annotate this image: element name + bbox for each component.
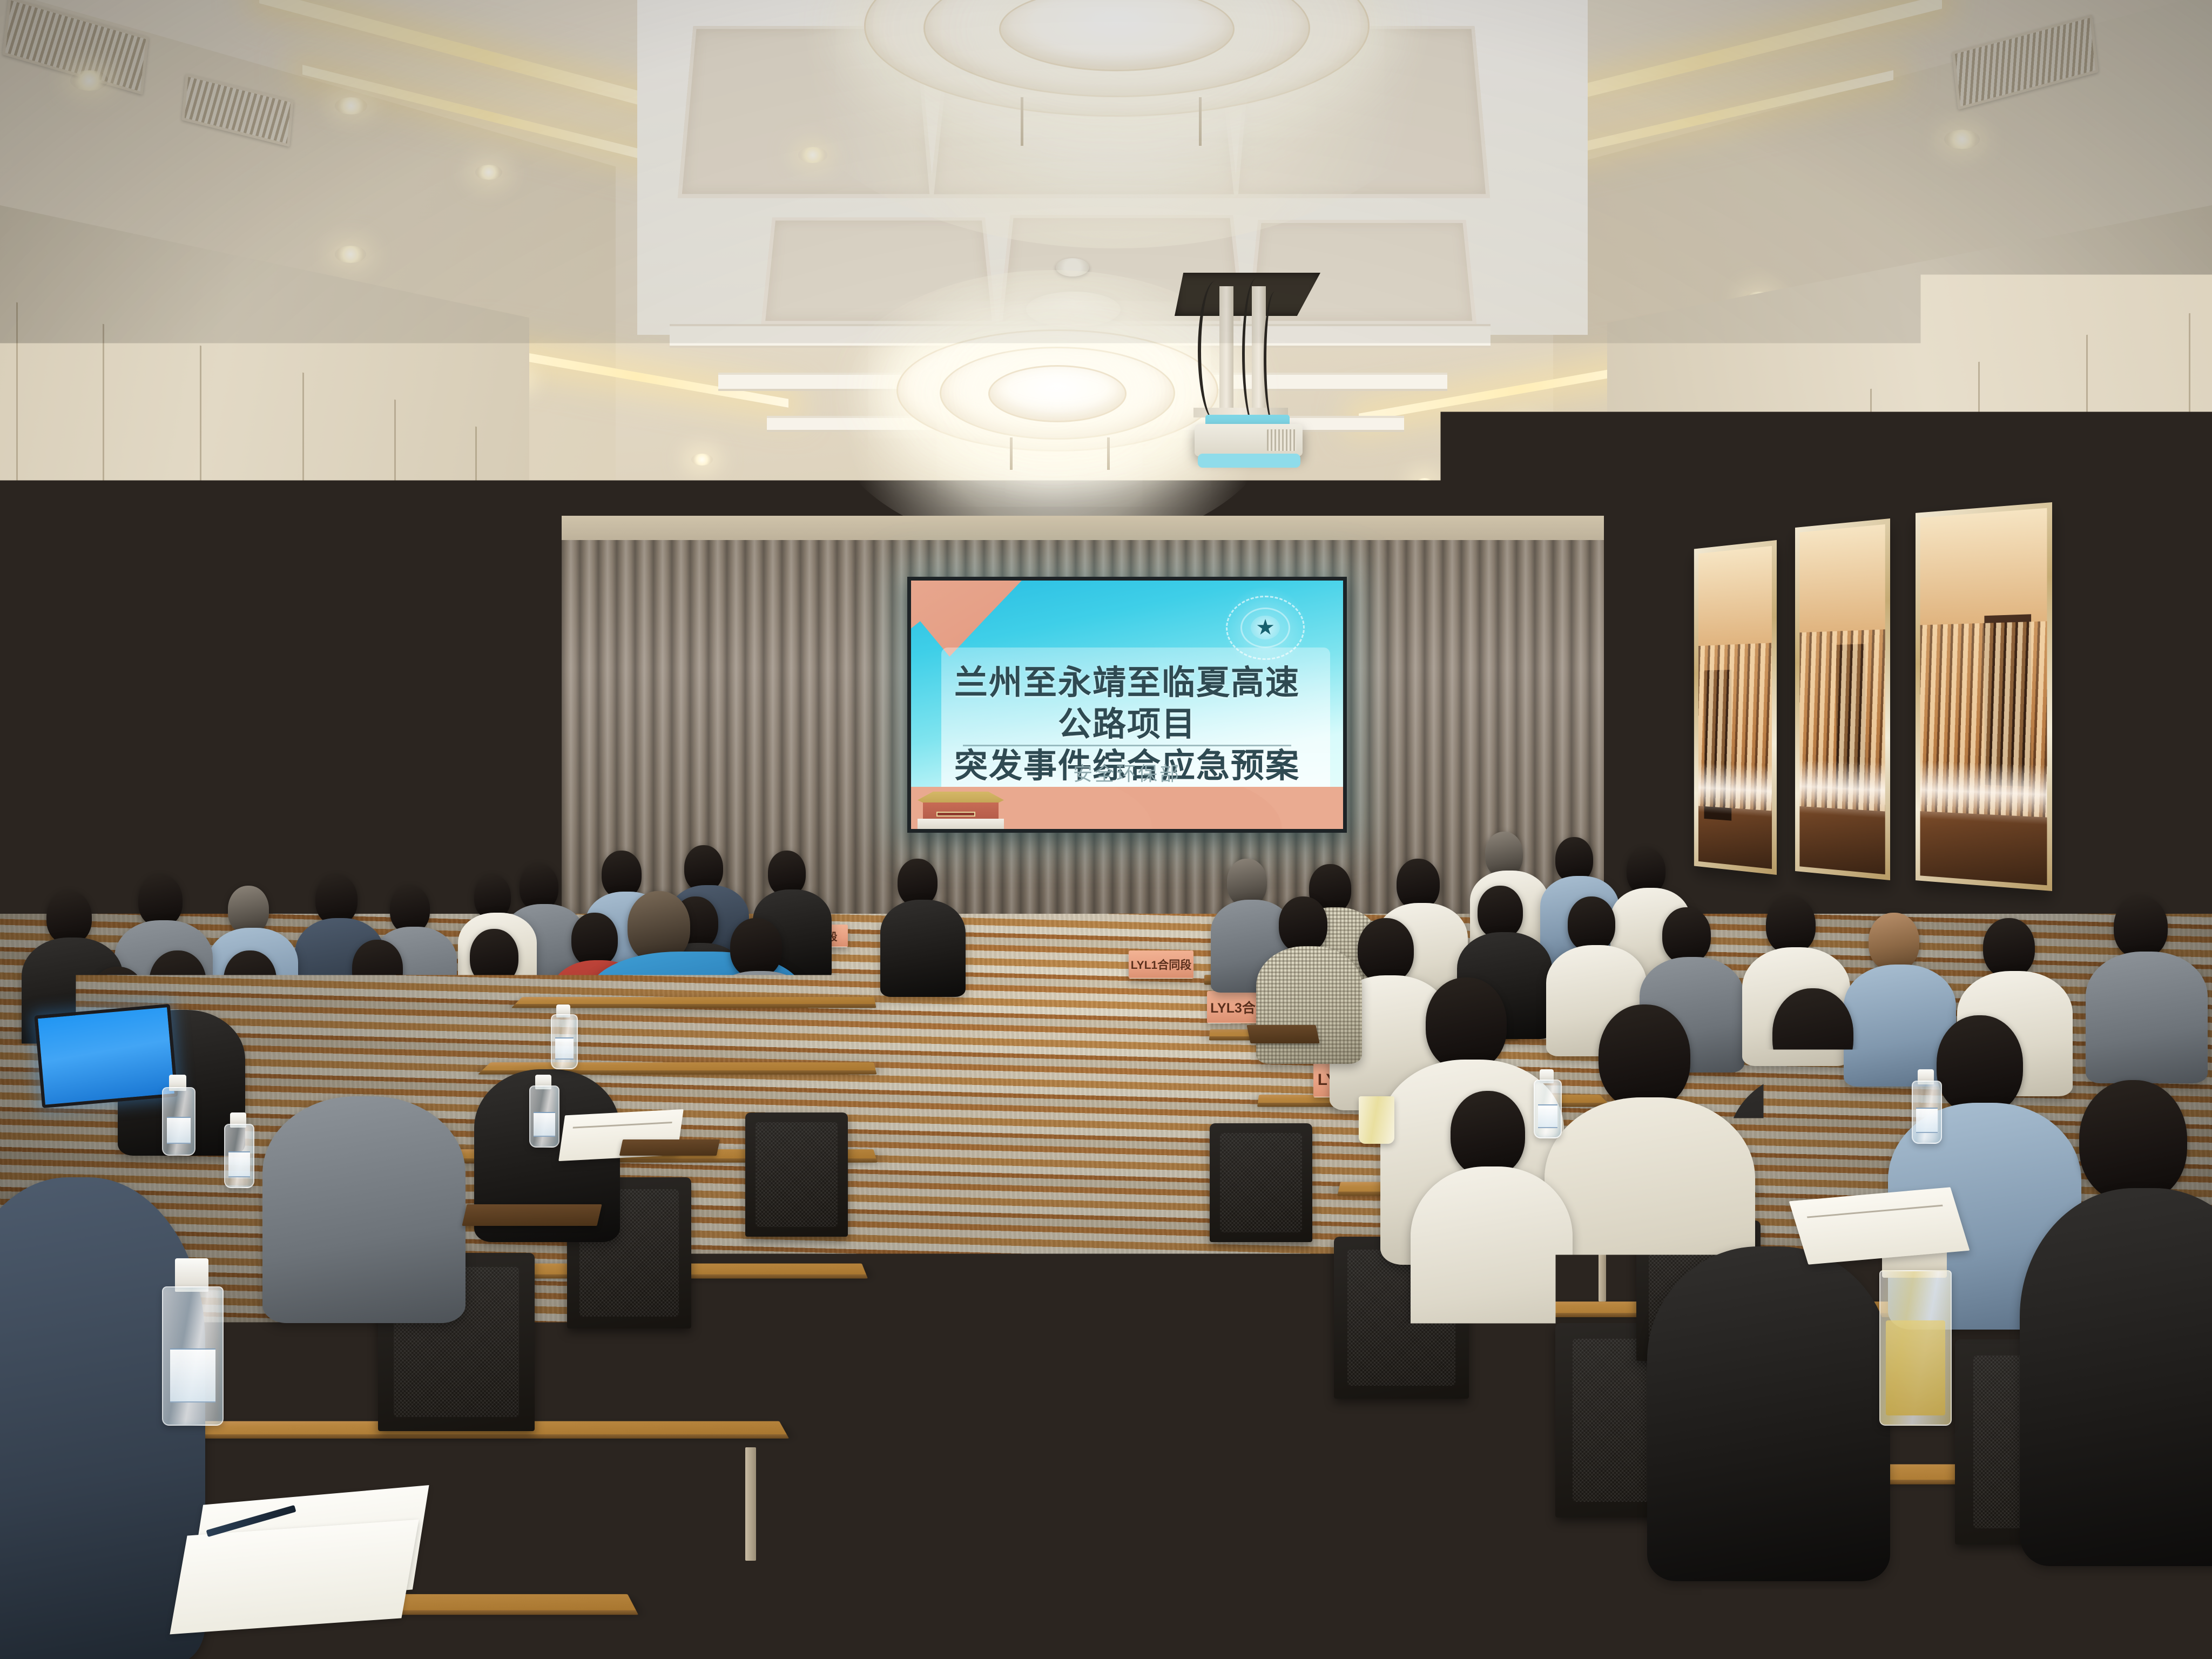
paper-cup: [1359, 1096, 1394, 1144]
office-chair: [1210, 1123, 1312, 1242]
wall-painting: [1916, 502, 2052, 891]
water-bottle: [1912, 1069, 1940, 1144]
bottle-body: [162, 1087, 195, 1156]
recessed-downlight: [70, 70, 108, 91]
conference-room-photo: ★ 兰州至永靖至临夏高速公路项目 突发事件综合应急预案汇报材料 安全环保部: [0, 0, 2212, 1659]
recessed-downlight: [691, 454, 713, 466]
painting-sky: [1698, 546, 1772, 646]
wall-panel-seam: [200, 346, 201, 908]
bottle-body: [162, 1286, 224, 1426]
water-bottle: [162, 1075, 193, 1156]
tiananmen-gate-graphic: [918, 789, 1004, 829]
booklet-text-line: [1982, 1417, 2173, 1439]
gate-base: [918, 819, 1004, 829]
bottle-body: [1534, 1080, 1562, 1138]
wall-back-left: [475, 518, 572, 896]
projector-vent: [1267, 429, 1296, 451]
bottle-body: [224, 1124, 254, 1188]
table-leg: [502, 1458, 513, 1577]
water-bottle: [162, 1258, 221, 1426]
notebook: [1246, 1025, 1319, 1043]
bottle-body: [1912, 1081, 1942, 1144]
chandelier-main: [842, 0, 1388, 167]
wall-panel-seam: [103, 324, 104, 919]
recessed-downlight: [475, 165, 502, 180]
bottle-label: [1916, 1108, 1938, 1133]
slide-divider: [963, 745, 1291, 746]
projection-screen: ★ 兰州至永靖至临夏高速公路项目 突发事件综合应急预案汇报材料 安全环保部: [907, 577, 1347, 833]
booklet-spine: [2059, 1374, 2100, 1489]
bottle-label: [170, 1348, 215, 1403]
note-paper: [170, 1520, 419, 1635]
recessed-downlight: [335, 97, 367, 114]
gate-plaque: [936, 812, 975, 817]
wall-panel-seam: [394, 400, 396, 875]
painting-mist: [1799, 759, 1885, 818]
painting-mist: [1920, 761, 2047, 825]
recessed-downlight: [1944, 130, 1980, 149]
projector-cable: [1264, 292, 1286, 427]
water-bottle: [224, 1112, 252, 1188]
water-bottle: [1534, 1069, 1560, 1138]
painting-sky: [1799, 524, 1885, 632]
painting-mist: [1698, 763, 1772, 818]
table-name-card: LYL1合同段: [1129, 950, 1193, 979]
office-chair: [745, 1112, 848, 1237]
water-bottle: [551, 1004, 576, 1069]
booklet-text-line: [1958, 1391, 2193, 1418]
notebook: [619, 1139, 720, 1156]
slide-title-line-1: 兰州至永靖至临夏高速公路项目: [946, 663, 1309, 746]
gate-roof: [918, 789, 1004, 804]
wall-panel-seam: [2086, 335, 2088, 929]
laptop: [34, 1004, 171, 1102]
water-bottle: [529, 1075, 557, 1148]
laptop-screen: [34, 1004, 178, 1108]
name-card-label: LYL1合同段: [1131, 956, 1191, 973]
bottle-body: [529, 1085, 559, 1148]
bottle-label: [167, 1117, 191, 1144]
gate-body: [923, 802, 999, 820]
bottle-label: [228, 1151, 250, 1177]
table-leg: [745, 1447, 756, 1561]
wall-painting: [1795, 518, 1890, 880]
curtain-valance: [562, 516, 1604, 542]
wall-panel-seam: [2189, 313, 2190, 940]
booklet-text-line: [1807, 1205, 1943, 1218]
chandelier-secondary: [880, 329, 1226, 491]
slide-subtitle: 安全环保部: [946, 758, 1309, 786]
star-icon: ★: [1251, 616, 1280, 639]
painting-sky: [1920, 508, 2047, 625]
bottle-label: [555, 1037, 574, 1060]
bottle-label: [1538, 1104, 1557, 1128]
wall-speaker: [444, 604, 462, 738]
wall-painting: [1694, 540, 1777, 875]
projector-base-plate: [1198, 454, 1300, 468]
wall-panel-seam: [302, 373, 304, 892]
bottle-body: [551, 1014, 578, 1069]
recessed-downlight: [1512, 427, 1536, 440]
projector-cable: [1198, 281, 1233, 421]
notebook: [462, 1204, 602, 1226]
recessed-downlight: [1415, 478, 1434, 489]
bottle-label: [534, 1112, 555, 1137]
wall-panel-seam: [16, 302, 18, 929]
booklet-text-line: [572, 1122, 672, 1129]
recessed-downlight: [335, 246, 366, 263]
presentation-slide: ★ 兰州至永靖至临夏高速公路项目 突发事件综合应急预案汇报材料 安全环保部: [911, 581, 1343, 829]
